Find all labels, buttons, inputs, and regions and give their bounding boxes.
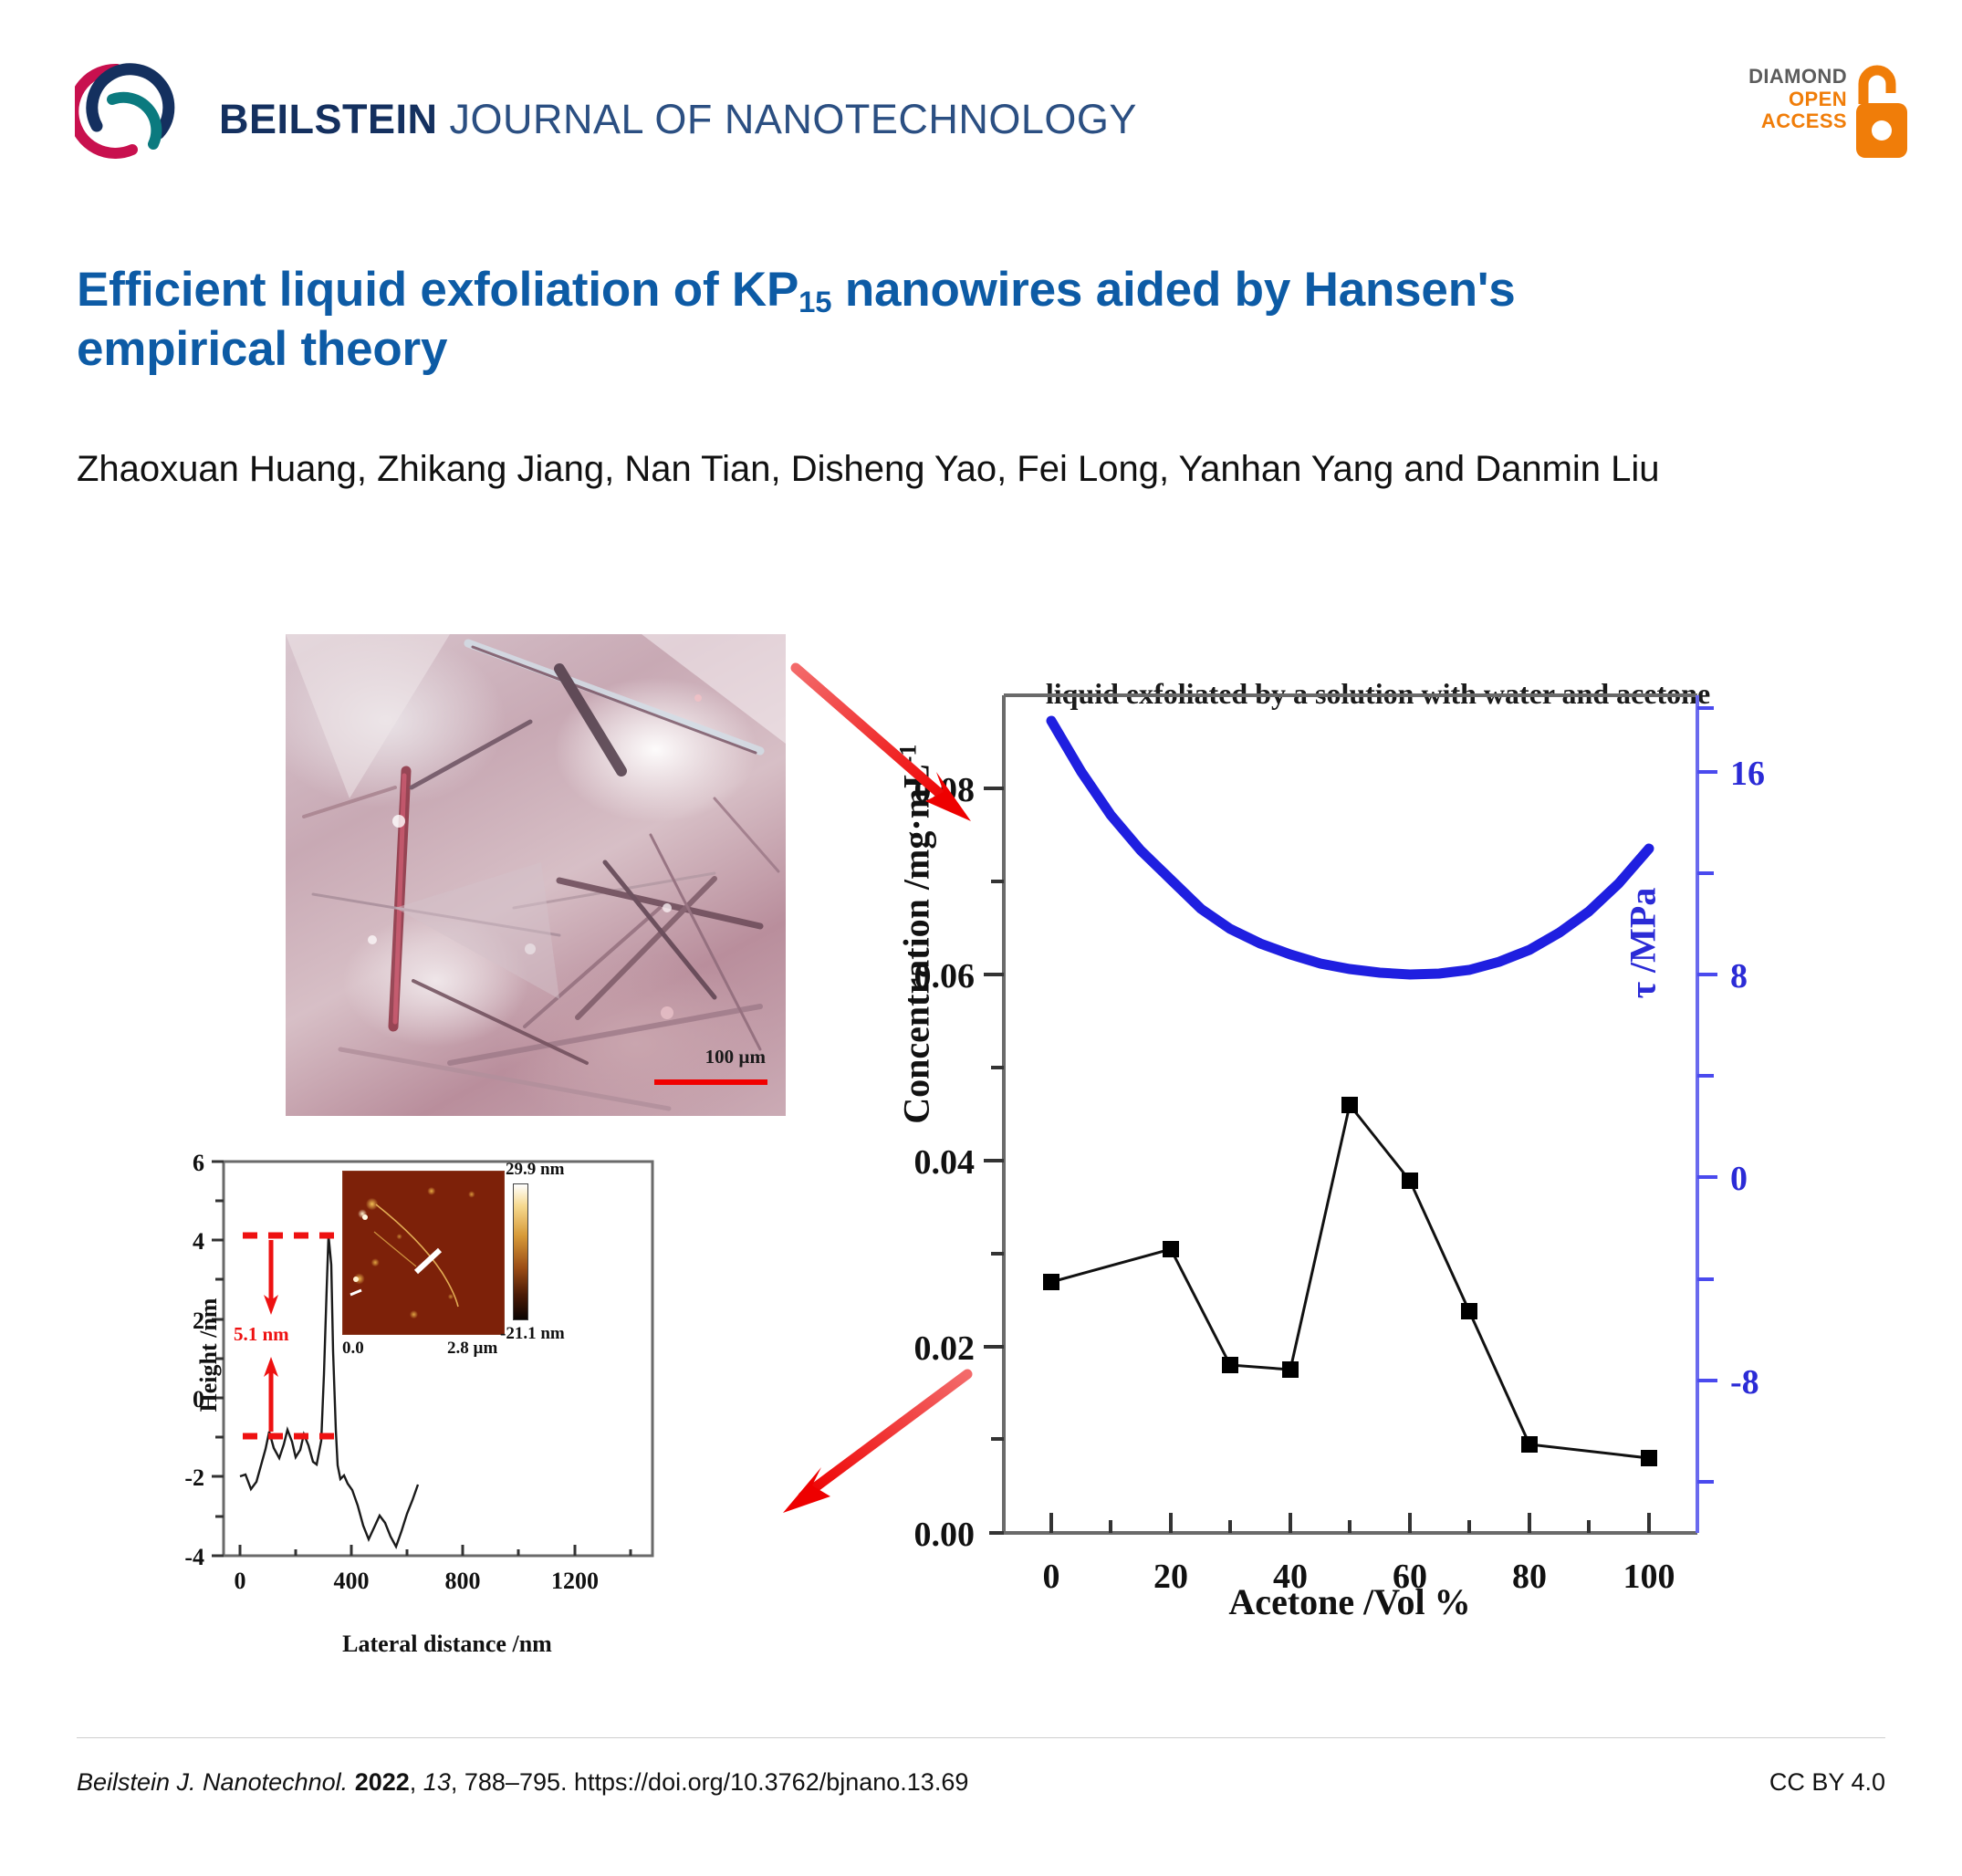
journal-name-light: JOURNAL OF NANOTECHNOLOGY — [438, 96, 1137, 142]
footer-year: 2022 — [355, 1768, 410, 1796]
footer-volume: 13 — [423, 1768, 451, 1796]
optical-micrograph-kp15-nanowires: 100 µm — [286, 634, 786, 1116]
chart-ytick-3: 0.06 — [914, 957, 976, 995]
afm-colorbar-min-label: -21.1 nm — [500, 1324, 565, 1344]
afm-scale-max-label: 2.8 µm — [447, 1339, 497, 1359]
chart-xtick-3: 60 — [1393, 1558, 1427, 1596]
open-access-text: DIAMOND OPEN ACCESS — [1748, 66, 1847, 133]
open-access-line-diamond: DIAMOND — [1748, 66, 1847, 89]
article-title: Efficient liquid exfoliation of KP15 nan… — [77, 261, 1719, 380]
concentration-chart: liquid exfoliated by a solution with wat… — [821, 529, 1898, 1624]
chart-ytick-1: 0.02 — [914, 1329, 976, 1368]
chart-xtick-0: 0 — [1043, 1558, 1060, 1596]
beilstein-logo — [75, 57, 184, 164]
chart-frame — [1004, 695, 1697, 1533]
article-authors: Zhaoxuan Huang, Zhikang Jiang, Nan Tian,… — [77, 444, 1774, 495]
chart-y-ticks — [984, 788, 1017, 1533]
chart-y2tick-2: 8 — [1730, 957, 1748, 995]
open-access-badge: DIAMOND OPEN ACCESS — [1708, 62, 1909, 164]
optical-scalebar-line — [654, 1079, 767, 1085]
open-padlock-icon — [1854, 62, 1909, 161]
optical-scalebar-label: 100 µm — [705, 1046, 766, 1068]
chart-series-tau — [1051, 721, 1649, 974]
afm-ytick-6: 6 — [193, 1150, 204, 1176]
chart-ytick-0: 0.00 — [914, 1516, 976, 1554]
chart-x-ticks — [1051, 1513, 1649, 1533]
footer-pages: 788–795. — [464, 1768, 568, 1796]
open-access-line-access: ACCESS — [1748, 110, 1847, 133]
afm-x-ticks — [240, 1545, 631, 1556]
afm-colorbar — [513, 1183, 528, 1320]
chart-ytick-4: 0.08 — [914, 771, 976, 809]
afm-xtick-1200: 1200 — [551, 1568, 599, 1594]
footer-journal-abbrev: Beilstein J. Nanotechnol. — [77, 1768, 348, 1796]
open-access-line-open: OPEN — [1748, 89, 1847, 111]
article-title-subscript: 15 — [798, 285, 831, 318]
journal-masthead: BEILSTEIN JOURNAL OF NANOTECHNOLOGY DIAM… — [0, 0, 1962, 182]
chart-series-concentration — [1043, 1097, 1657, 1466]
afm-y-axis-label: Height /nm — [195, 1232, 223, 1478]
chart-xtick-5: 100 — [1623, 1558, 1675, 1596]
graphical-abstract-figure: 100 µm liquid exfoliated by a solution w… — [0, 584, 1962, 1715]
afm-xtick-0: 0 — [235, 1568, 246, 1594]
chart-plot-area: 0.00 0.02 0.04 0.06 0.08 -8 0 8 16 — [821, 529, 1898, 1624]
afm-scale-min-label: 0.0 — [342, 1339, 364, 1359]
afm-height-label: 5.1 nm — [234, 1323, 289, 1346]
chart-xtick-2: 40 — [1273, 1558, 1308, 1596]
afm-colorbar-max-label: 29.9 nm — [506, 1160, 564, 1180]
footer-divider — [77, 1737, 1885, 1738]
chart-xtick-1: 20 — [1153, 1558, 1188, 1596]
article-title-part1: Efficient liquid exfoliation of KP — [77, 263, 798, 317]
journal-name: BEILSTEIN JOURNAL OF NANOTECHNOLOGY — [219, 96, 1137, 143]
footer-comma-1: , — [410, 1768, 417, 1796]
afm-x-axis-label: Lateral distance /nm — [237, 1631, 657, 1658]
footer-license: CC BY 4.0 — [1769, 1768, 1885, 1797]
chart-y2tick-1: 0 — [1730, 1160, 1748, 1198]
afm-xtick-800: 800 — [445, 1568, 481, 1594]
afm-topography-inset — [342, 1171, 505, 1335]
afm-height-profile-chart: Height /nm Lateral distance /nm 6 4 — [173, 1145, 757, 1711]
chart-y2tick-3: 16 — [1730, 755, 1765, 793]
footer-citation: Beilstein J. Nanotechnol. 2022, 13, 788–… — [77, 1768, 968, 1797]
chart-ytick-2: 0.04 — [914, 1143, 976, 1182]
chart-y2-ticks — [1697, 708, 1717, 1482]
afm-xtick-400: 400 — [334, 1568, 370, 1594]
footer-doi-link[interactable]: https://doi.org/10.3762/bjnano.13.69 — [574, 1768, 968, 1796]
chart-y2tick-0: -8 — [1730, 1363, 1759, 1402]
chart-xtick-4: 80 — [1512, 1558, 1547, 1596]
afm-ytick-n4: -4 — [184, 1544, 204, 1570]
journal-name-bold: BEILSTEIN — [219, 96, 438, 142]
footer-comma-2: , — [451, 1768, 458, 1796]
